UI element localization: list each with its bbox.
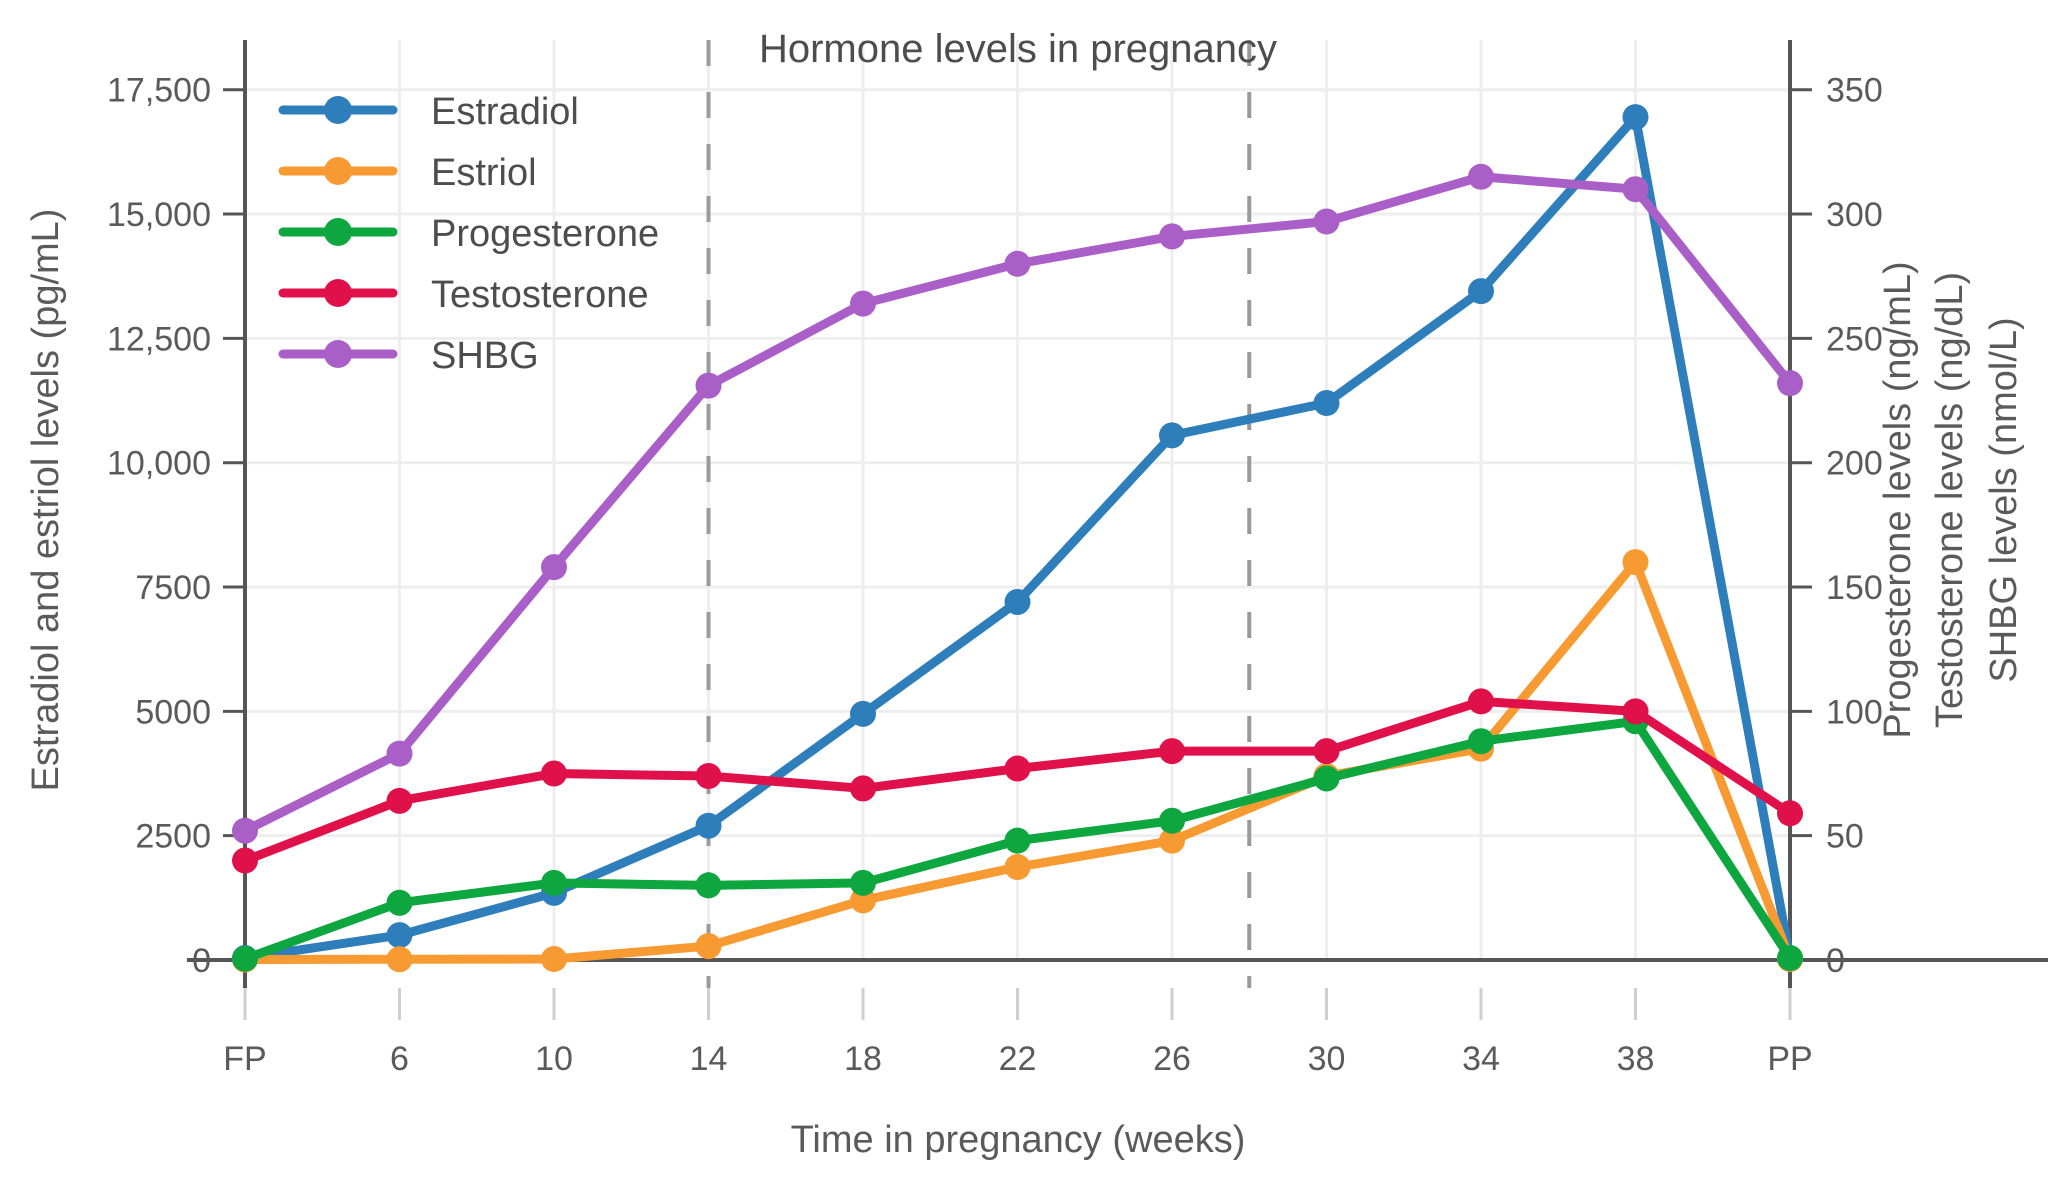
y-axis-title-right-1: Progesterone levels (ng/mL) — [1877, 261, 1919, 738]
legend: EstradiolEstriolProgesteroneTestosterone… — [283, 91, 659, 377]
data-point-shbg-10[interactable] — [541, 554, 567, 580]
data-point-estriol-10[interactable] — [541, 946, 567, 972]
data-point-progesterone-30[interactable] — [1314, 765, 1340, 791]
data-point-shbg-30[interactable] — [1314, 209, 1340, 235]
y-axis-right-tick-label: 0 — [1826, 942, 1845, 980]
x-axis-tick-label: 10 — [535, 1040, 573, 1078]
data-point-shbg-14[interactable] — [696, 373, 722, 399]
legend-label-estriol: Estriol — [431, 152, 537, 194]
legend-item-estriol[interactable]: Estriol — [283, 152, 537, 194]
legend-label-shbg: SHBG — [431, 335, 539, 377]
y-axis-right-tick-label: 100 — [1826, 693, 1883, 731]
x-axis-tick-label: 6 — [390, 1040, 409, 1078]
y-axis-left-tick-label: 10,000 — [107, 445, 211, 483]
x-axis-title: Time in pregnancy (weeks) — [791, 1119, 1246, 1161]
data-point-estradiol-18[interactable] — [850, 701, 876, 727]
data-point-estradiol-38[interactable] — [1623, 104, 1649, 130]
data-point-shbg-38[interactable] — [1623, 176, 1649, 202]
legend-label-estradiol: Estradiol — [431, 91, 579, 133]
data-point-estradiol-22[interactable] — [1005, 589, 1031, 615]
legend-swatch-marker-testosterone — [324, 279, 352, 307]
y-axis-left-tick-label: 7500 — [135, 569, 211, 607]
x-axis-tick-label: PP — [1767, 1040, 1812, 1078]
data-point-progesterone-18[interactable] — [850, 870, 876, 896]
x-axis-tick-label: FP — [223, 1040, 266, 1078]
y-axis-right-ticks: 050100150200250300350 — [1790, 72, 1883, 980]
legend-swatch-marker-shbg — [324, 340, 352, 368]
data-point-progesterone-6[interactable] — [387, 890, 413, 916]
y-axis-left-tick-label: 15,000 — [107, 196, 211, 234]
data-point-testosterone-PP[interactable] — [1777, 800, 1803, 826]
data-point-testosterone-26[interactable] — [1159, 738, 1185, 764]
data-point-estradiol-30[interactable] — [1314, 390, 1340, 416]
data-point-shbg-6[interactable] — [387, 741, 413, 767]
legend-item-estradiol[interactable]: Estradiol — [283, 91, 579, 133]
data-point-progesterone-FP[interactable] — [232, 946, 258, 972]
y-axis-left-tick-label: 17,500 — [107, 72, 211, 110]
hormone-levels-chart: 025005000750010,00012,50015,00017,500050… — [0, 0, 2048, 1196]
legend-swatch-marker-progesterone — [324, 218, 352, 246]
y-axis-title-right-2: Testosterone levels (ng/dL) — [1929, 272, 1971, 728]
data-point-shbg-26[interactable] — [1159, 223, 1185, 249]
x-axis-tick-label: 14 — [690, 1040, 728, 1078]
y-axis-right-tick-label: 350 — [1826, 72, 1883, 110]
legend-item-progesterone[interactable]: Progesterone — [283, 213, 659, 255]
x-axis-tick-label: 26 — [1153, 1040, 1191, 1078]
data-point-progesterone-22[interactable] — [1005, 828, 1031, 854]
data-point-testosterone-18[interactable] — [850, 775, 876, 801]
data-point-estriol-38[interactable] — [1623, 549, 1649, 575]
data-point-shbg-FP[interactable] — [232, 818, 258, 844]
data-point-estradiol-34[interactable] — [1468, 278, 1494, 304]
data-point-progesterone-10[interactable] — [541, 870, 567, 896]
x-axis-ticks: FP61014182226303438PP — [223, 988, 1812, 1078]
data-point-testosterone-14[interactable] — [696, 763, 722, 789]
y-axis-right-tick-label: 200 — [1826, 445, 1883, 483]
data-point-shbg-34[interactable] — [1468, 164, 1494, 190]
y-axis-right-tick-label: 250 — [1826, 320, 1883, 358]
data-point-progesterone-14[interactable] — [696, 872, 722, 898]
legend-item-testosterone[interactable]: Testosterone — [283, 274, 649, 316]
data-point-progesterone-34[interactable] — [1468, 728, 1494, 754]
x-axis-tick-label: 18 — [844, 1040, 882, 1078]
x-axis-tick-label: 22 — [999, 1040, 1037, 1078]
data-point-estradiol-6[interactable] — [387, 922, 413, 948]
data-point-progesterone-26[interactable] — [1159, 808, 1185, 834]
y-axis-right-tick-label: 300 — [1826, 196, 1883, 234]
x-axis-tick-label: 30 — [1308, 1040, 1346, 1078]
y-axis-right-tick-label: 150 — [1826, 569, 1883, 607]
data-point-testosterone-34[interactable] — [1468, 688, 1494, 714]
chart-canvas: 025005000750010,00012,50015,00017,500050… — [0, 0, 2048, 1196]
y-axis-title-right-3: SHBG levels (nmol/L) — [1983, 317, 2025, 682]
data-point-shbg-22[interactable] — [1005, 251, 1031, 277]
x-axis-tick-label: 34 — [1462, 1040, 1500, 1078]
data-point-estradiol-26[interactable] — [1159, 422, 1185, 448]
chart-title: Hormone levels in pregnancy — [759, 27, 1277, 71]
x-axis-tick-label: 38 — [1617, 1040, 1655, 1078]
legend-item-shbg[interactable]: SHBG — [283, 335, 539, 377]
data-point-estradiol-14[interactable] — [696, 813, 722, 839]
legend-swatch-marker-estradiol — [324, 96, 352, 124]
legend-label-testosterone: Testosterone — [431, 274, 649, 316]
data-point-shbg-PP[interactable] — [1777, 370, 1803, 396]
data-point-shbg-18[interactable] — [850, 291, 876, 317]
y-axis-right-tick-label: 50 — [1826, 818, 1864, 856]
data-point-progesterone-PP[interactable] — [1777, 945, 1803, 971]
y-axis-left-tick-label: 0 — [192, 942, 211, 980]
y-axis-left-tick-label: 12,500 — [107, 320, 211, 358]
data-point-testosterone-10[interactable] — [541, 761, 567, 787]
legend-label-progesterone: Progesterone — [431, 213, 659, 255]
data-point-estriol-14[interactable] — [696, 933, 722, 959]
legend-swatch-marker-estriol — [324, 157, 352, 185]
data-point-estriol-22[interactable] — [1005, 854, 1031, 880]
data-point-testosterone-6[interactable] — [387, 788, 413, 814]
data-point-estriol-6[interactable] — [387, 946, 413, 972]
data-point-testosterone-38[interactable] — [1623, 698, 1649, 724]
y-axis-left-ticks: 025005000750010,00012,50015,00017,500 — [107, 72, 245, 980]
data-point-testosterone-FP[interactable] — [232, 848, 258, 874]
y-axis-left-tick-label: 5000 — [135, 693, 211, 731]
data-point-testosterone-30[interactable] — [1314, 738, 1340, 764]
y-axis-title-left: Estradiol and estriol levels (pg/mL) — [25, 209, 67, 792]
y-axis-left-tick-label: 2500 — [135, 818, 211, 856]
data-point-testosterone-22[interactable] — [1005, 756, 1031, 782]
